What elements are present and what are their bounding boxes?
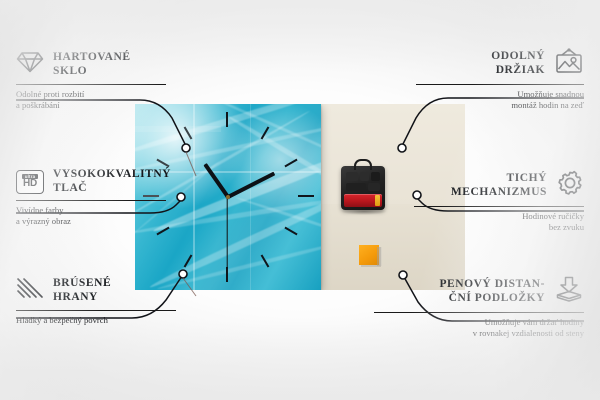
feature-title: BRÚSENÉ HRANY — [53, 277, 111, 304]
feature-title: PENOVÝ DISTAN- ČNÍ PODLOŽKY — [439, 278, 545, 305]
feature-header: BRÚSENÉ HRANY — [16, 276, 176, 305]
feature-title: HARTOVANÉ SKLO — [53, 51, 131, 78]
feature-title: VYSOKOKVALITNÝ TLAČ — [53, 168, 171, 195]
feature-divider — [16, 200, 166, 201]
feature-desc: Umožňuje vám držať hodiny v rovnakej vzd… — [374, 317, 584, 339]
feature-ground-edges: BRÚSENÉ HRANY Hladký a bezpečný povrch — [16, 276, 176, 326]
feature-desc: Vivídne farby a výrazný obraz — [16, 205, 166, 227]
clock-center-pin — [226, 195, 230, 199]
second-hand — [226, 197, 227, 269]
hd-label: HD — [23, 179, 37, 189]
feature-silent-mechanism: TICHÝ MECHANIZMUS Hodinové ručičky bez z… — [414, 170, 584, 233]
feature-header: HARTOVANÉ SKLO — [16, 50, 166, 79]
feature-header: ultra HD VYSOKOKVALITNÝ TLAČ — [16, 168, 166, 195]
feature-divider — [16, 84, 166, 85]
clock-mechanism — [341, 166, 385, 210]
feature-title: ODOLNÝ DRŽIAK — [491, 50, 545, 77]
feature-divider — [416, 84, 584, 85]
ultra-hd-badge-icon: ultra HD — [16, 170, 44, 194]
feature-hardened-glass: HARTOVANÉ SKLO Odolné proti rozbití a po… — [16, 50, 166, 111]
feature-title: TICHÝ MECHANIZMUS — [451, 172, 547, 199]
feature-header: TICHÝ MECHANIZMUS — [414, 170, 584, 201]
foam-pad-arrow-icon — [554, 276, 584, 307]
feature-header: PENOVÝ DISTAN- ČNÍ PODLOŽKY — [374, 276, 584, 307]
feature-durable-hanger: ODOLNÝ DRŽIAK Umožňuje snadnou montáž ho… — [416, 48, 584, 111]
picture-hanger-icon — [554, 48, 584, 79]
feature-divider — [414, 206, 584, 207]
foam-spacer-pad — [359, 245, 379, 265]
ground-edges-icon — [16, 276, 44, 305]
feature-desc: Odolné proti rozbití a poškrábání — [16, 89, 166, 111]
feature-header: ODOLNÝ DRŽIAK — [416, 48, 584, 79]
feature-high-quality-print: ultra HD VYSOKOKVALITNÝ TLAČ Vivídne far… — [16, 168, 166, 227]
battery — [344, 194, 382, 207]
feature-desc: Hladký a bezpečný povrch — [16, 315, 176, 326]
feature-foam-spacers: PENOVÝ DISTAN- ČNÍ PODLOŽKY Umožňuje vám… — [374, 276, 584, 339]
diamond-icon — [16, 50, 44, 79]
feature-desc: Hodinové ručičky bez zvuku — [414, 211, 584, 233]
feature-divider — [16, 310, 176, 311]
feature-divider — [374, 312, 584, 313]
gear-icon — [556, 170, 584, 201]
feature-desc: Umožňuje snadnou montáž hodin na zeď — [416, 89, 584, 111]
hanger-hook — [354, 159, 372, 170]
infographic-canvas: HARTOVANÉ SKLO Odolné proti rozbití a po… — [0, 0, 600, 400]
